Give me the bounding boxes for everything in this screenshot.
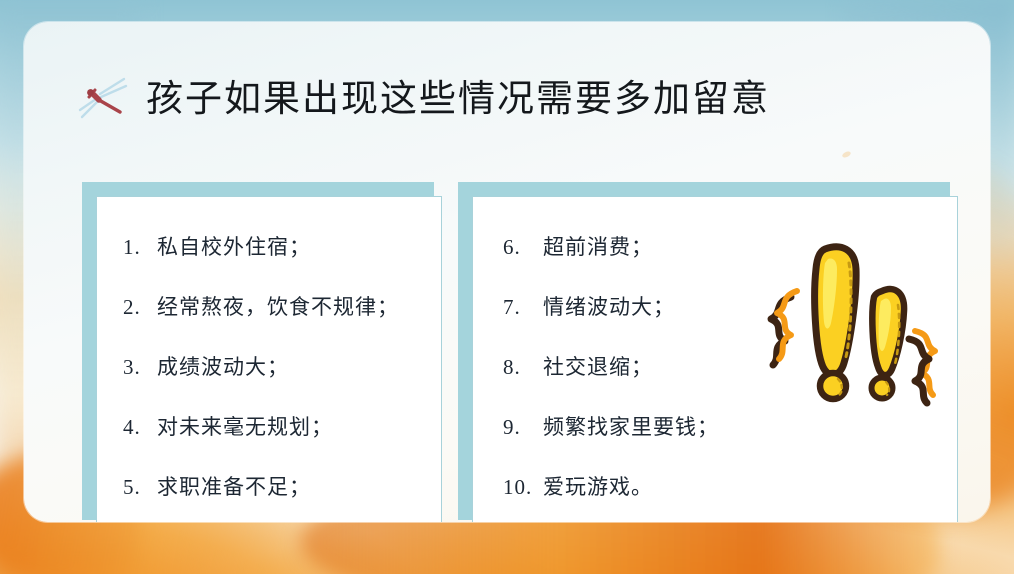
list-item-label: 对未来毫无规划；	[157, 411, 333, 441]
list-item-label: 私自校外住宿；	[157, 231, 311, 261]
list-item[interactable]: 3. 成绩波动大；	[123, 351, 441, 381]
list-item-label: 成绩波动大；	[157, 351, 289, 381]
list-item-number: 4.	[123, 415, 157, 440]
right-card-body: 6. 超前消费； 7. 情绪波动大； 8. 社交退缩； 9. 频繁找家里要钱；	[472, 196, 958, 522]
list-item[interactable]: 10. 爱玩游戏。	[503, 471, 957, 501]
slide-canvas: 孩子如果出现这些情况需要多加留意 1. 私自校外住宿； 2. 经常熬夜，饮食不规…	[0, 0, 1014, 574]
list-item[interactable]: 4. 对未来毫无规划；	[123, 411, 441, 441]
list-item-label: 社交退缩；	[543, 351, 653, 381]
list-item-number: 8.	[503, 355, 543, 380]
list-item-label: 经常熬夜，饮食不规律；	[157, 291, 399, 321]
list-item[interactable]: 5. 求职准备不足；	[123, 471, 441, 501]
list-item-number: 9.	[503, 415, 543, 440]
list-item-label: 情绪波动大；	[543, 291, 675, 321]
list-item-label: 频繁找家里要钱；	[543, 411, 719, 441]
list-item[interactable]: 2. 经常熬夜，饮食不规律；	[123, 291, 441, 321]
list-item-number: 1.	[123, 235, 157, 260]
list-item-number: 10.	[503, 475, 543, 500]
list-item-label: 超前消费；	[543, 231, 653, 261]
left-card-body: 1. 私自校外住宿； 2. 经常熬夜，饮食不规律； 3. 成绩波动大； 4. 对…	[96, 196, 442, 522]
list-item-number: 5.	[123, 475, 157, 500]
list-item[interactable]: 9. 频繁找家里要钱；	[503, 411, 957, 441]
list-item-label: 爱玩游戏。	[543, 471, 653, 501]
list-item-number: 3.	[123, 355, 157, 380]
left-list: 1. 私自校外住宿； 2. 经常熬夜，饮食不规律； 3. 成绩波动大； 4. 对…	[123, 231, 441, 501]
left-list-card: 1. 私自校外住宿； 2. 经常熬夜，饮食不规律； 3. 成绩波动大； 4. 对…	[82, 182, 442, 522]
list-item-number: 6.	[503, 235, 543, 260]
decor-speck	[841, 150, 851, 158]
content-panel: 孩子如果出现这些情况需要多加留意 1. 私自校外住宿； 2. 经常熬夜，饮食不规…	[24, 22, 990, 522]
list-item-number: 7.	[503, 295, 543, 320]
right-list-card: 6. 超前消费； 7. 情绪波动大； 8. 社交退缩； 9. 频繁找家里要钱；	[458, 182, 958, 522]
list-item[interactable]: 1. 私自校外住宿；	[123, 231, 441, 261]
page-title: 孩子如果出现这些情况需要多加留意	[76, 70, 770, 126]
page-title-text: 孩子如果出现这些情况需要多加留意	[146, 80, 770, 117]
list-item-number: 2.	[123, 295, 157, 320]
list-item-label: 求职准备不足；	[157, 471, 311, 501]
dragonfly-icon	[76, 70, 132, 126]
